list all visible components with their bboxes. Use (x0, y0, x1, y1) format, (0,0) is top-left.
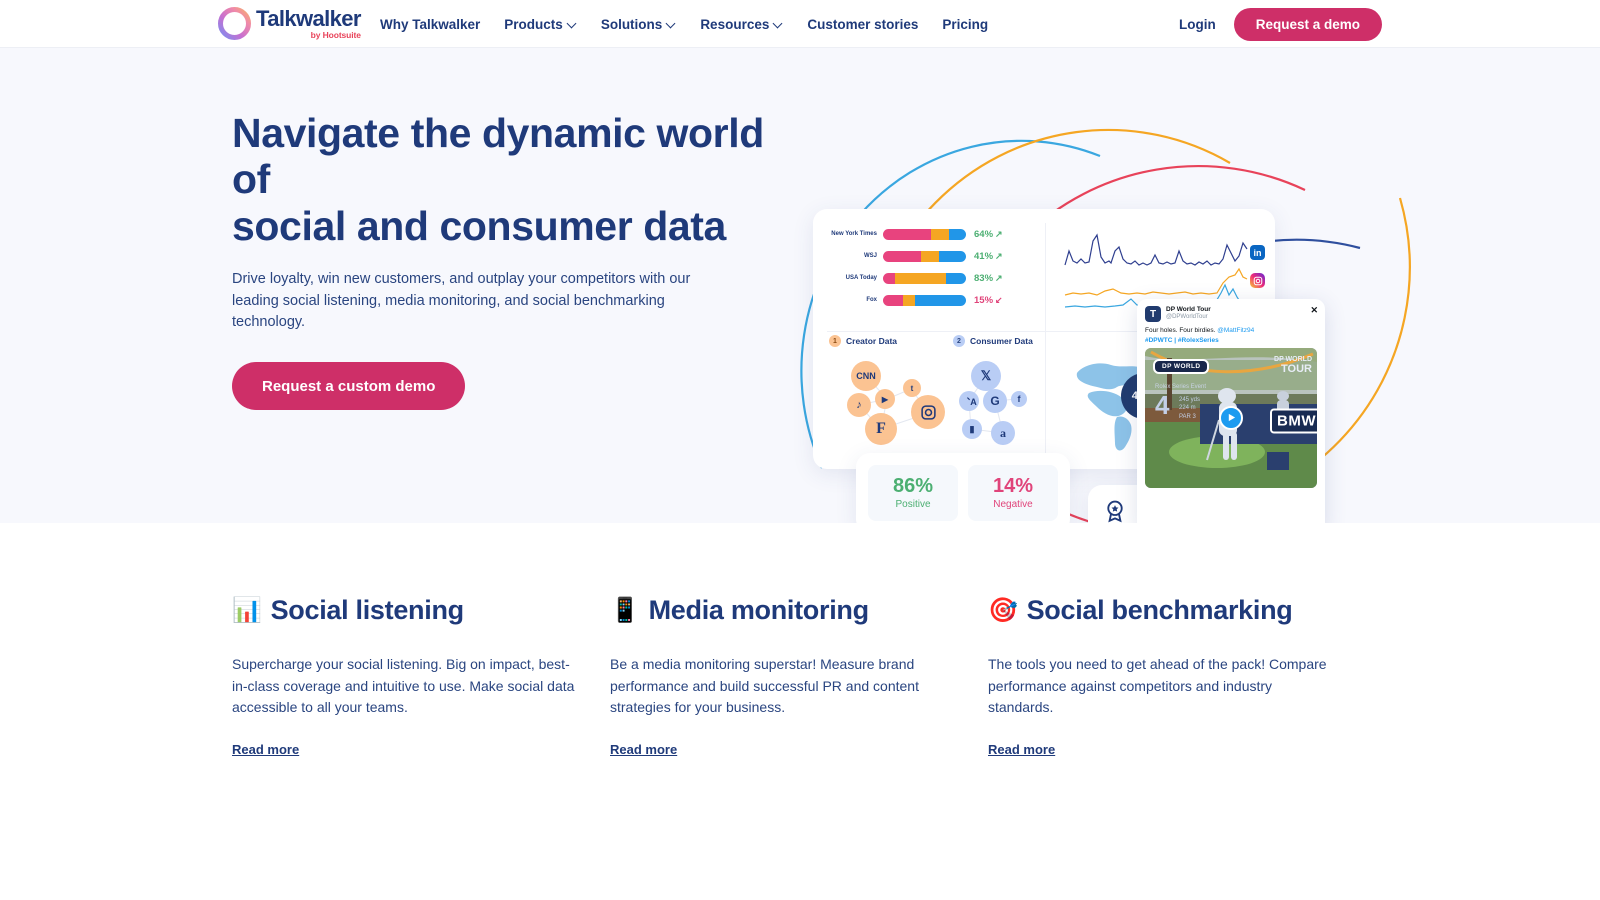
hero-heading-line-2: social and consumer data (232, 203, 726, 249)
negative-percentage: 14% (993, 476, 1033, 496)
bmw-sponsor-label: BMW (1270, 408, 1317, 433)
header-actions: Login Request a demo (1179, 0, 1382, 48)
nav-item-products[interactable]: Products (492, 0, 589, 48)
bar-label: New York Times (827, 231, 883, 237)
cnn-node-icon: CNN (851, 361, 881, 391)
chevron-down-icon (568, 19, 577, 28)
nav-item-resources[interactable]: Resources (688, 0, 795, 48)
forbes-node-icon: F (865, 413, 897, 445)
post-video-thumbnail[interactable]: DP WORLD Rolex Series Event 4 245 yds 22… (1145, 348, 1317, 488)
talkwalker-speech-bubble-logo (218, 7, 251, 40)
feature-title: 📱 Media monitoring (610, 595, 988, 626)
hero-copy: Navigate the dynamic world of social and… (232, 110, 792, 410)
bar-label: WSJ (827, 253, 883, 259)
post-mention[interactable]: @MattFitz94 (1217, 327, 1254, 334)
hero-section: Navigate the dynamic world of social and… (0, 48, 1600, 523)
twitch-node-icon: ▮ (962, 419, 982, 439)
graph-title: Consumer Data (970, 336, 1033, 346)
hole-number: 4 (1155, 392, 1169, 418)
x-twitter-node-icon: 𝕏 (971, 361, 1001, 391)
nav-label: Pricing (942, 17, 988, 32)
bar-value: 83% ↗ (974, 273, 1003, 284)
trend-up-icon: ↗ (995, 229, 1003, 240)
hole-meters: 224 m (1179, 404, 1200, 413)
bar-track (883, 295, 966, 306)
bar-value: 15% ↙ (974, 295, 1003, 306)
watermark-line-2: TOUR (1274, 363, 1312, 375)
post-body: Four holes. Four birdies. (1145, 327, 1215, 334)
site-header: Talkwalker by Hootsuite Why Talkwalker P… (0, 0, 1600, 48)
trend-down-icon: ↙ (995, 295, 1003, 306)
dp-world-chip-label: DP WORLD (1162, 363, 1200, 370)
chevron-down-icon (667, 19, 676, 28)
bar-label: USA Today (827, 275, 883, 281)
table-row: WSJ 41% ↗ (827, 247, 1032, 265)
table-row: New York Times 64% ↗ (827, 225, 1032, 243)
read-more-link[interactable]: Read more (610, 742, 677, 757)
instagram-icon (1250, 273, 1265, 288)
step-number: 2 (953, 335, 965, 347)
feature-title: 🎯 Social benchmarking (988, 595, 1372, 626)
step-number: 1 (829, 335, 841, 347)
dp-world-chip: DP WORLD (1153, 359, 1209, 374)
graph-title: Creator Data (846, 336, 897, 346)
post-author: DP World Tour (1166, 306, 1211, 314)
google-node-icon: G (983, 389, 1007, 413)
tiktok-node-icon: ♪ (847, 393, 871, 417)
negative-sentiment-box: 14% Negative (968, 465, 1058, 521)
positive-sentiment-box: 86% Positive (868, 465, 958, 521)
nav-label: Customer stories (807, 17, 918, 32)
tour-watermark: DP WORLD TOUR (1274, 356, 1312, 376)
consumer-data-graph: 2 Consumer Data 𝕏 ︑A G f (953, 335, 1063, 455)
facebook-node-icon: f (1011, 391, 1027, 407)
play-button-icon[interactable] (1219, 406, 1243, 430)
logo-tagline: by Hootsuite (311, 31, 361, 40)
bar-chart-emoji: 📊 (232, 599, 262, 623)
youtube-node-icon: ▶ (875, 389, 895, 409)
feature-body: Be a media monitoring superstar! Measure… (610, 654, 958, 719)
post-header: T DP World Tour @DPWorldTour (1137, 299, 1325, 324)
chevron-down-icon (774, 19, 783, 28)
main-navigation: Why Talkwalker Products Solutions Resour… (368, 0, 1000, 48)
dart-target-emoji: 🎯 (988, 599, 1018, 623)
bar-value-text: 83% (974, 273, 993, 284)
feature-title-text: Social listening (271, 595, 464, 626)
linkedin-icon: in (1250, 245, 1265, 260)
request-demo-button[interactable]: Request a demo (1234, 8, 1382, 41)
nav-label: Why Talkwalker (380, 17, 480, 32)
feature-title-text: Media monitoring (649, 595, 869, 626)
feature-card-media-monitoring: 📱 Media monitoring Be a media monitoring… (610, 595, 988, 759)
trend-up-icon: ↗ (995, 251, 1003, 262)
watermark-line-1: DP WORLD (1274, 356, 1312, 364)
hero-illustration: New York Times 64% ↗ WSJ (800, 48, 1440, 523)
close-icon[interactable]: ✕ (1310, 305, 1318, 316)
feature-title: 📊 Social listening (232, 595, 610, 626)
feature-card-social-benchmarking: 🎯 Social benchmarking The tools you need… (988, 595, 1372, 759)
feature-body: Supercharge your social listening. Big o… (232, 654, 580, 719)
negative-label: Negative (993, 499, 1032, 510)
hole-yards: 245 yds (1179, 396, 1200, 405)
read-more-link[interactable]: Read more (988, 742, 1055, 757)
tumblr-node-icon: t (903, 379, 921, 397)
bar-value-text: 41% (974, 251, 993, 262)
social-post-card: ✕ T DP World Tour @DPWorldTour Four hole… (1137, 299, 1325, 523)
award-badge-icon (1102, 498, 1128, 523)
bar-track (883, 251, 966, 262)
logo[interactable]: Talkwalker by Hootsuite (218, 7, 361, 40)
nav-item-customer-stories[interactable]: Customer stories (795, 0, 930, 48)
logo-wordmark: Talkwalker (256, 8, 361, 30)
nav-label: Solutions (601, 17, 663, 32)
event-label: Rolex Series Event (1155, 384, 1206, 390)
graph-heading: 2 Consumer Data (953, 335, 1063, 347)
feature-body: The tools you need to get ahead of the p… (988, 654, 1336, 719)
features-section: 📊 Social listening Supercharge your soci… (0, 523, 1600, 900)
positive-label: Positive (895, 499, 930, 510)
media-bar-chart: New York Times 64% ↗ WSJ (827, 225, 1032, 313)
post-text: Four holes. Four birdies. @MattFitz94 (1137, 324, 1325, 336)
request-custom-demo-button[interactable]: Request a custom demo (232, 362, 465, 410)
bar-value-text: 15% (974, 295, 993, 306)
sentiment-card: 86% Positive 14% Negative (856, 453, 1070, 523)
app-store-node-icon: ︑A (959, 391, 979, 411)
hero-subheading: Drive loyalty, win new customers, and ou… (232, 269, 732, 334)
bar-track (883, 229, 966, 240)
feature-title-text: Social benchmarking (1027, 595, 1293, 626)
amazon-node-icon: a (991, 421, 1015, 445)
bar-label: Fox (827, 297, 883, 303)
bar-value: 64% ↗ (974, 229, 1003, 240)
login-link[interactable]: Login (1179, 17, 1216, 32)
mobile-phone-emoji: 📱 (610, 599, 640, 623)
bar-track (883, 273, 966, 284)
read-more-link[interactable]: Read more (232, 742, 299, 757)
post-hashtags[interactable]: #DPWTC | #RolexSeries (1137, 336, 1325, 348)
nav-label: Products (504, 17, 563, 32)
hole-par: PAR 3 (1179, 413, 1200, 422)
bar-value: 41% ↗ (974, 251, 1003, 262)
nav-item-solutions[interactable]: Solutions (589, 0, 689, 48)
nav-item-why-talkwalker[interactable]: Why Talkwalker (368, 0, 492, 48)
hero-heading-line-1: Navigate the dynamic world of (232, 110, 764, 202)
page-title: Navigate the dynamic world of social and… (232, 110, 792, 249)
nav-item-pricing[interactable]: Pricing (930, 0, 1000, 48)
trend-up-icon: ↗ (995, 273, 1003, 284)
table-row: USA Today 83% ↗ (827, 269, 1032, 287)
bar-value-text: 64% (974, 229, 993, 240)
features-grid: 📊 Social listening Supercharge your soci… (232, 595, 1372, 759)
avatar: T (1145, 306, 1161, 322)
feature-card-social-listening: 📊 Social listening Supercharge your soci… (232, 595, 610, 759)
positive-percentage: 86% (893, 476, 933, 496)
post-handle: @DPWorldTour (1166, 314, 1211, 322)
hole-meta: 245 yds 224 m PAR 3 (1179, 396, 1200, 422)
instagram-node-icon (911, 395, 945, 429)
nav-label: Resources (700, 17, 769, 32)
table-row: Fox 15% ↙ (827, 291, 1032, 309)
